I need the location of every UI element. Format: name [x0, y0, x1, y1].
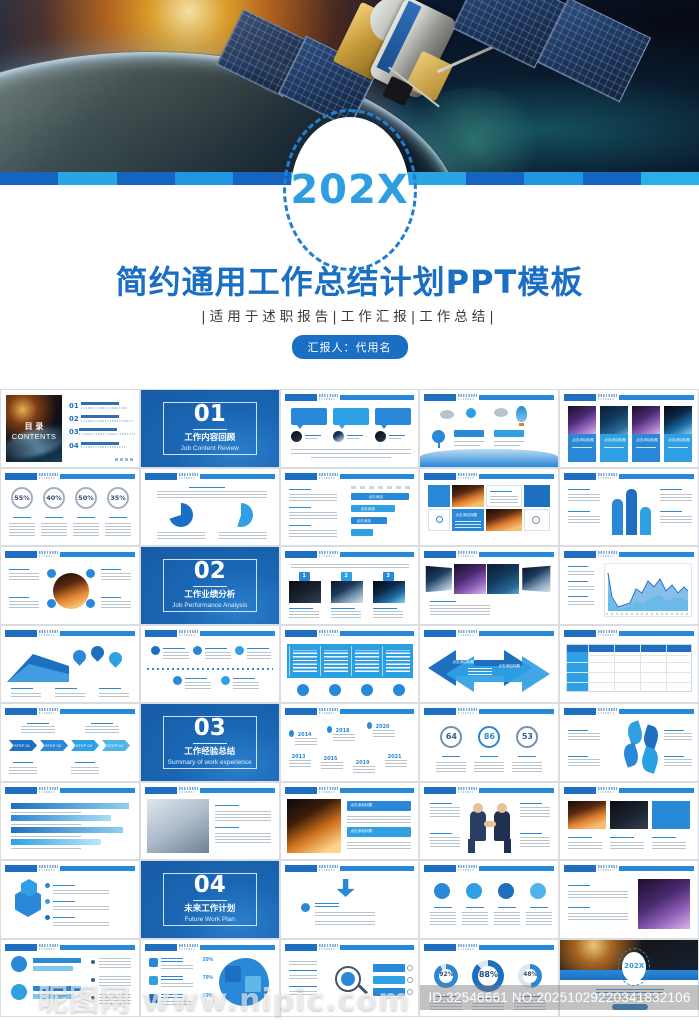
globe-icon	[11, 984, 27, 1000]
percent-value: 35%	[107, 494, 129, 502]
donut-value: 92%	[434, 971, 458, 978]
stripe-segment	[641, 172, 699, 185]
bulb-icon	[436, 516, 443, 523]
thumbnail-team-icons[interactable]	[419, 860, 559, 939]
toc-cover-image: 目 录 CONTENTS	[6, 395, 62, 462]
thumbnail-row: 点击添加标题 点击添加标题	[0, 625, 699, 704]
year-badge: 202X	[291, 117, 409, 263]
section-cover: 02 工作业绩分析 Job Performance Analysis	[141, 547, 279, 624]
map-pin-icon	[106, 649, 124, 667]
closing-year: 202X	[622, 962, 646, 970]
hot-air-balloon-icon	[516, 406, 527, 422]
divider	[193, 900, 227, 901]
map-pin-icon	[70, 647, 88, 665]
donut-value: 88%	[472, 970, 504, 979]
thumbnail-year-timeline[interactable]: 2014 2018 2020 2013 2015 2019 2021	[280, 703, 420, 782]
handshake-illustration	[468, 803, 512, 853]
area-chart-svg	[606, 567, 690, 613]
person-icon	[466, 883, 482, 899]
thumbnail-timeline[interactable]	[140, 625, 280, 704]
thumbnail-gradient-bars[interactable]	[0, 782, 140, 861]
thumbnail-testimonials[interactable]	[280, 389, 420, 468]
map-pin-icon	[88, 643, 106, 661]
thumbnail-puzzle-brain[interactable]: 20% 70% 50%	[140, 939, 280, 1018]
stripe-segment	[524, 172, 582, 185]
thumbnail-row: 点击添加标题 点击添加标题	[0, 782, 699, 861]
leaf-icon	[621, 742, 641, 767]
download-icon	[337, 879, 355, 897]
thumbnail-four-columns[interactable]	[280, 625, 420, 704]
thumbnail-area-chart[interactable]	[559, 546, 699, 625]
stripe-segment	[408, 172, 466, 185]
section-number: 04	[194, 874, 226, 897]
section-cover: 04 未来工作计划 Future Work Plan	[141, 861, 279, 938]
section-number: 01	[194, 403, 226, 426]
divider	[193, 586, 227, 587]
thumbnail-panorama[interactable]	[419, 546, 559, 625]
toc-item: 02	[69, 415, 133, 423]
thumbnail-balloon-infographic[interactable]	[419, 389, 559, 468]
thumbnail-photo-icon-grid[interactable]: 点击添加标题	[419, 468, 559, 547]
thumbnail-step-chevrons[interactable]: STEP 01 STEP 02 STEP 03 STEP 04	[0, 703, 140, 782]
percent-value: 55%	[11, 494, 33, 502]
donut-value: 48%	[518, 971, 542, 978]
fingerprint-image	[638, 879, 690, 929]
stripe-segment	[0, 172, 58, 185]
thumbnail-circular-diagram[interactable]	[0, 546, 140, 625]
section-title-cn: 工作经验总结	[184, 747, 235, 757]
flame-icon	[361, 684, 373, 696]
year-text: 202X	[290, 167, 408, 213]
thumbnail-numbered-cards[interactable]: 1 2 3	[280, 546, 420, 625]
toc-title-en: CONTENTS	[6, 432, 62, 441]
thumbnail-handshake[interactable]	[419, 782, 559, 861]
brain-puzzle-icon	[219, 958, 269, 1006]
thumbnail-leaf-diagram[interactable]	[559, 703, 699, 782]
toc-list: 01 02 03 04	[69, 402, 133, 455]
gear-icon	[341, 972, 355, 986]
avatar	[291, 431, 302, 442]
card-number: 2	[341, 573, 352, 579]
thumbnail-bar-chart[interactable]	[559, 468, 699, 547]
section-title-cn: 工作业绩分析	[184, 590, 235, 600]
user-icon	[297, 684, 309, 696]
section-title-en: Future Work Plan	[184, 916, 234, 924]
percent-label: 50%	[203, 993, 213, 999]
avatar	[375, 431, 386, 442]
toc-item-number: 04	[69, 442, 81, 450]
percent-value: 50%	[75, 494, 97, 502]
thumbnail-section-02[interactable]: 02 工作业绩分析 Job Performance Analysis	[140, 546, 280, 625]
stat-number: 64	[440, 732, 462, 741]
percent-label: 70%	[203, 975, 213, 981]
percent-label: 20%	[203, 957, 213, 963]
thumbnail-data-table[interactable]	[559, 625, 699, 704]
toc-item: 03	[69, 428, 133, 436]
target-icon	[393, 684, 405, 696]
doc-icon	[532, 516, 540, 524]
leaf-icon	[639, 746, 662, 774]
thumbnail-hexagon-diagram[interactable]	[0, 860, 140, 939]
thumbnail-magnifier-mindmap[interactable]	[280, 939, 420, 1018]
section-number: 02	[194, 560, 226, 583]
thumbnail-opposing-arrows[interactable]: 点击添加标题 点击添加标题	[419, 625, 559, 704]
thumbnail-row: 04 未来工作计划 Future Work Plan	[0, 860, 699, 939]
step-label: STEP 02	[45, 743, 61, 748]
stripe-segment	[117, 172, 175, 185]
section-title-en: Summary of work experience	[168, 759, 252, 767]
toc-item-number: 03	[69, 428, 79, 436]
stripe-segment	[583, 172, 641, 185]
thumbnail-ring-numbers[interactable]: 64 86 53	[419, 703, 559, 782]
avatar	[333, 431, 344, 442]
leaf-icon	[625, 720, 645, 745]
person-icon	[530, 883, 546, 899]
section-cover: 03 工作经验总结 Summary of work experience	[141, 704, 279, 781]
thumbnail-toc[interactable]: 目 录 CONTENTS 01 02 03 04	[0, 389, 140, 468]
section-title-en: Job Content Review	[181, 445, 239, 453]
thumbnail-photo-cards[interactable]: 点击添加标题 点击添加标题 点击添加标题 点击添加标题	[559, 389, 699, 468]
subtitle: |适用于述职报告|工作汇报|工作总结|	[0, 305, 699, 325]
section-title-en: Job Performance Analysis	[172, 602, 247, 610]
toc-dots	[115, 458, 133, 461]
thumbnail-section-01[interactable]: 01 工作内容回顾 Job Content Review	[140, 389, 280, 468]
stripe-segment	[175, 172, 233, 185]
thumbnail-pie-charts[interactable]	[140, 468, 280, 547]
thumbnail-icon-bars[interactable]	[0, 939, 140, 1018]
toc-item: 01	[69, 402, 133, 410]
thumbnail-fingerprint[interactable]	[559, 860, 699, 939]
percent-value: 40%	[43, 494, 65, 502]
card-number: 1	[299, 573, 310, 579]
person-icon	[434, 883, 450, 899]
thumbnail-photo-text[interactable]	[140, 782, 280, 861]
rocket-icon	[329, 684, 341, 696]
thumbnail-pins-chart[interactable]	[0, 625, 140, 704]
leaf-icon	[641, 724, 661, 749]
mountain-shape	[7, 648, 69, 682]
stripe-segment	[58, 172, 116, 185]
thumbnail-earth-list[interactable]: 点击添加标题 点击添加标题	[280, 782, 420, 861]
toc-title-cn: 目 录	[6, 421, 62, 432]
thumbnail-row: 02 工作业绩分析 Job Performance Analysis 1 2 3	[0, 546, 699, 625]
thumbnail-photo-duo[interactable]	[559, 782, 699, 861]
divider	[193, 429, 227, 430]
step-label: STEP 01	[14, 743, 30, 748]
thumbnail-percentages[interactable]: 55% 40% 50% 35%	[0, 468, 140, 547]
stat-number: 53	[516, 732, 538, 741]
thumbnail-row: 55% 40% 50% 35%	[0, 468, 699, 547]
divider	[193, 743, 227, 744]
person-icon	[498, 883, 514, 899]
card-number: 3	[383, 573, 394, 579]
thumbnail-section-03[interactable]: 03 工作经验总结 Summary of work experience	[140, 703, 280, 782]
thumbnail-bar-list[interactable]: 点击添加 点击添加 点击添加	[280, 468, 420, 547]
title-block: 202X 简约通用工作总结计划PPT模板 |适用于述职报告|工作汇报|工作总结|…	[0, 185, 699, 385]
section-title-cn: 未来工作计划	[184, 904, 235, 914]
toc-item-number: 01	[69, 402, 81, 410]
section-title-cn: 工作内容回顾	[184, 433, 235, 443]
step-label: STEP 04	[107, 743, 123, 748]
toc-item: 04	[69, 442, 133, 450]
thumbnail-row: 目 录 CONTENTS 01 02 03 04 01 工作内容回顾	[0, 389, 699, 468]
chart-icon	[11, 956, 27, 972]
step-label: STEP 03	[76, 743, 92, 748]
id-text: ID:32546661 NO:20251029220341832106	[428, 990, 690, 1005]
thumbnail-section-04[interactable]: 04 未来工作计划 Future Work Plan	[140, 860, 280, 939]
section-number: 03	[194, 717, 226, 740]
id-bar: ID:32546661 NO:20251029220341832106	[420, 985, 699, 1010]
presenter-badge: 汇报人：代用名	[292, 335, 408, 359]
thumbnail-download-icon[interactable]	[280, 860, 420, 939]
slide-thumbnail-grid: 目 录 CONTENTS 01 02 03 04 01 工作内容回顾	[0, 389, 699, 1017]
thumbnail-row: STEP 01 STEP 02 STEP 03 STEP 04 03 工作经验总…	[0, 703, 699, 782]
section-cover: 01 工作内容回顾 Job Content Review	[141, 390, 279, 467]
stat-number: 86	[478, 732, 500, 741]
toc-item-number: 02	[69, 415, 81, 423]
stripe-segment	[466, 172, 524, 185]
